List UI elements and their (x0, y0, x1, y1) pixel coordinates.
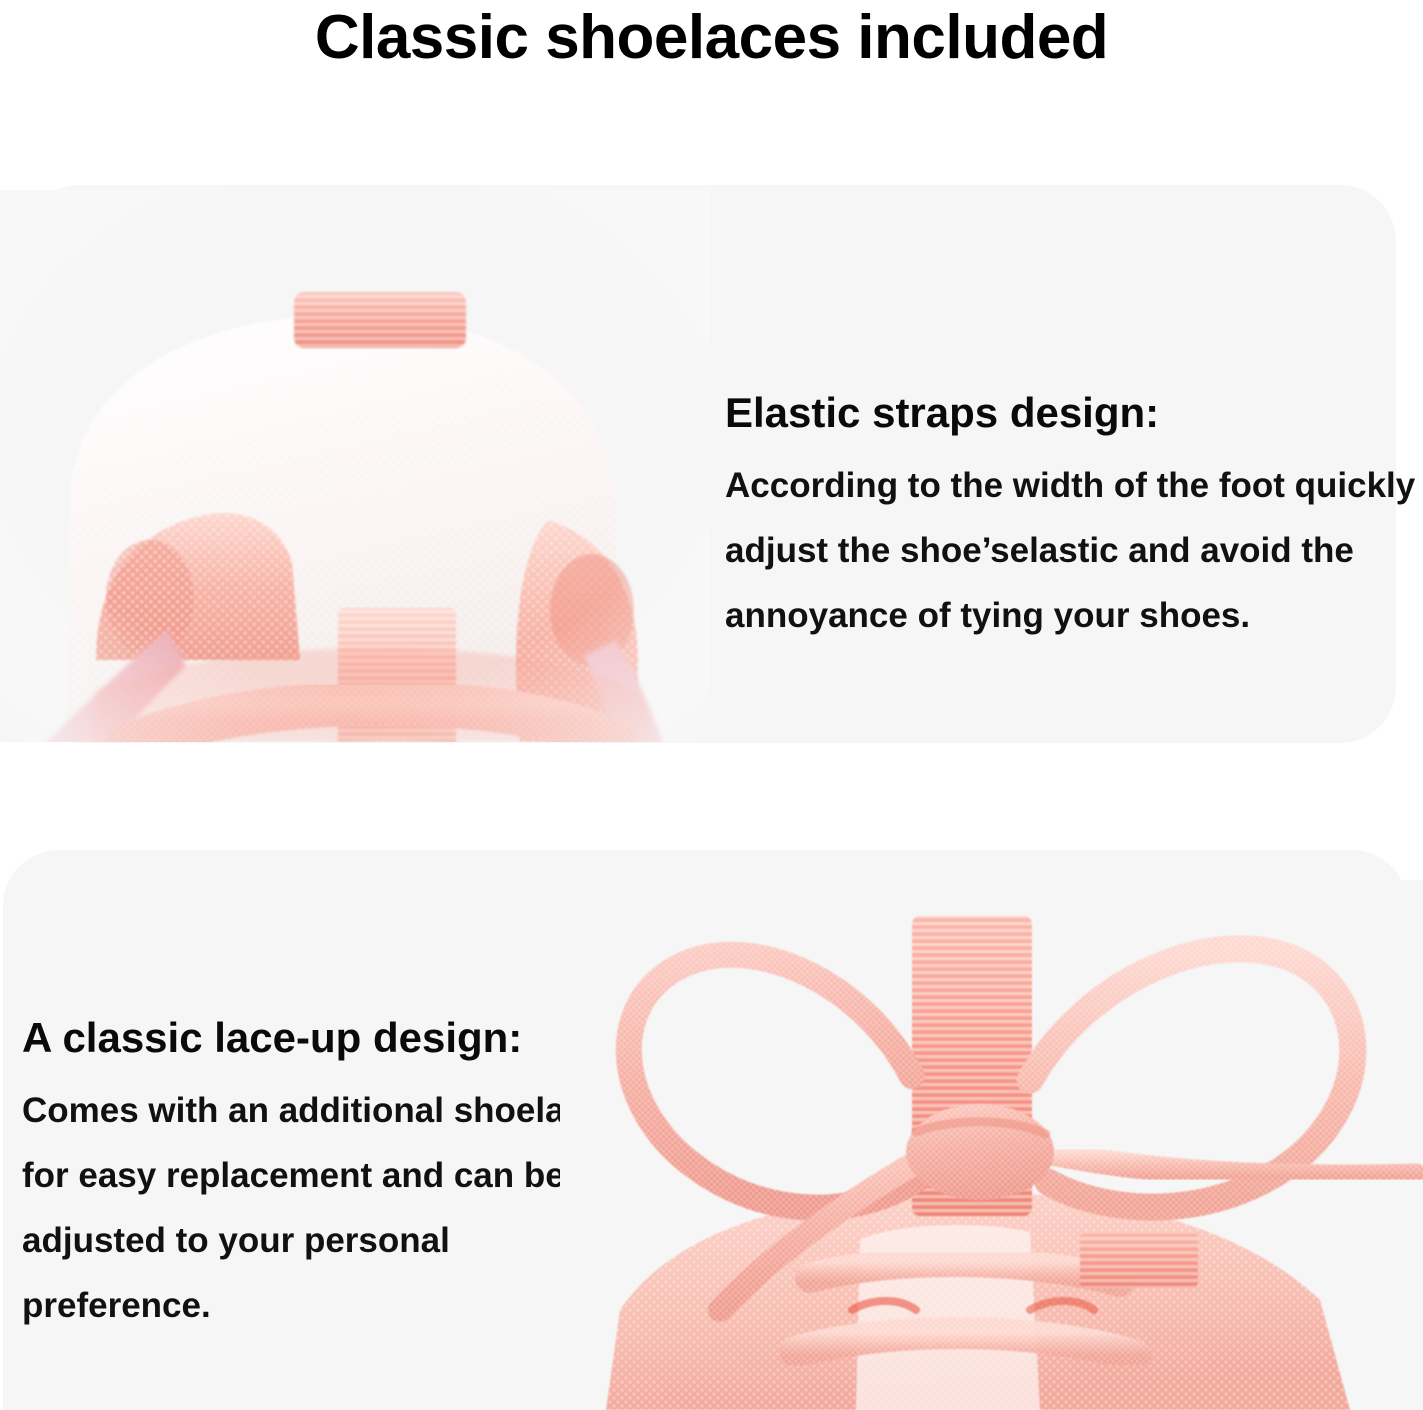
feature-text-lace-up: A classic lace-up design: Comes with an … (22, 1012, 642, 1338)
feature-body-lace-up: Comes with an additional shoelace for ea… (22, 1078, 642, 1338)
feature-heading-lace-up: A classic lace-up design: (22, 1012, 642, 1064)
elastic-straps-photo (0, 190, 710, 742)
elastic-straps-illustration (0, 190, 710, 742)
feature-heading-elastic-straps: Elastic straps design: (725, 387, 1423, 439)
feature-body-elastic-straps: According to the width of the foot quick… (725, 453, 1423, 648)
feature-text-elastic-straps: Elastic straps design: According to the … (725, 387, 1423, 648)
lace-up-illustration (560, 880, 1423, 1410)
page-title: Classic shoelaces included (0, 2, 1423, 74)
lace-up-photo (560, 880, 1423, 1410)
